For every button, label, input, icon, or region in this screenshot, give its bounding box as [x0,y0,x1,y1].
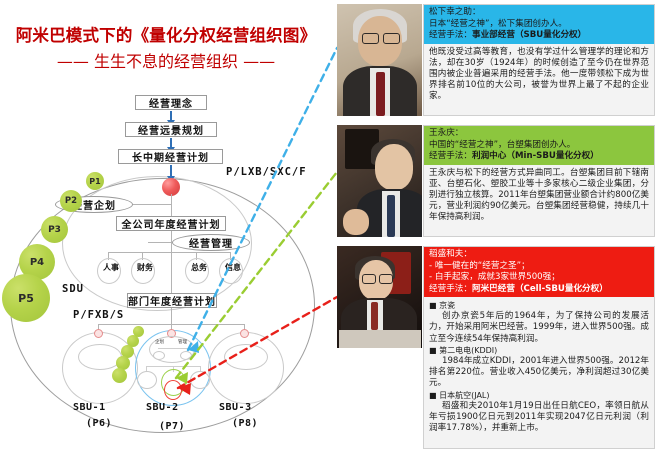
sbu-3-code: (P8) [232,418,258,429]
panel-wangyongqing-method: 经营手法：利润中心（Min-SBU量化分权） [429,151,650,163]
panel-inamori-text: ■ 京瓷 创办京瓷5年后的1964年，为了保持公司的发展活力，开始采用阿米巴经营… [424,297,654,436]
sbu-2-inner-bus [158,348,188,349]
code-label-sdu: SDU [62,283,84,295]
panel-inamori-header: 稻盛和夫： - 唯一健在的“经营之圣”； - 白手起家，成就3家世界500强； … [424,247,654,297]
panel-inamori-body: 稻盛和夫： - 唯一健在的“经营之圣”； - 白手起家，成就3家世界500强； … [423,246,655,449]
panel-wangyongqing-paragraph: 王永庆与松下的经营方式异曲同工。台塑集团目前下辖南亚、台塑石化、塑胶工业等十多家… [429,168,649,224]
flow-box-4[interactable]: 全公司年度经营计划 [116,216,226,231]
micro-label-management: 管理 [178,339,187,345]
portrait-inamori [337,246,422,348]
panel-wangyongqing-body: 王永庆： 中国的“经营之神”，台塑集团创办人。 经营手法：利润中心（Min-SB… [423,125,655,237]
panel-wangyongqing-text: 王永庆与松下的经营方式异曲同工。台塑集团目前下辖南亚、台塑石化、塑胶工业等十多家… [424,165,654,226]
code-label-lxb: P/LXB/SXC/F [226,166,307,178]
p-bubble-p5-label: P5 [18,292,34,305]
dept-label-hr-text: 人事 [103,263,119,272]
panel-inamori-name: 稻盛和夫： [429,249,650,261]
page-title: 阿米巴模式下的《量化分权经营组织图》 [6,22,326,46]
p-bubble-p2[interactable]: P2 [60,190,82,212]
panel-matsushita-desc: 日本“经营之神”，松下集团创办人。 [429,19,650,31]
sbu-3-inner-ellipse [224,344,268,370]
panel-wangyongqing-method-value: 利润中心（Min-SBU量化分权） [472,151,599,161]
p-bubble-p2-label: P2 [65,196,77,206]
panel-matsushita-paragraph: 他既没受过高等教育，也没有学过什么管理学的理论和方法，却在30岁（1924年）的… [429,47,649,103]
flow-box-5[interactable]: 部门年度经营计划 [127,293,217,308]
panel-inamori-heading-1: ■ 京瓷 [429,300,649,311]
p-bubble-p3[interactable]: P3 [41,216,68,243]
panel-wangyongqing-header: 王永庆： 中国的“经营之神”，台塑集团创办人。 经营手法：利润中心（Min-SB… [424,126,654,165]
dept-label-hr: 人事 [102,263,120,272]
planning-connector [133,204,171,205]
flow-arrow-1 [170,111,172,121]
dept-label-general: 总务 [190,263,208,272]
code-label-fxb: P/FXB/S [73,309,124,321]
dept-label-info-text: 信息 [225,263,241,272]
sbu-3-label: SBU-3 [219,402,252,413]
panel-matsushita-method: 经营手法：事业部经营（SBU量化分权） [429,30,650,42]
flow-box-2[interactable]: 经营远景规划 [125,122,217,137]
dept-bus-line [108,252,230,253]
oval-label-management[interactable]: 经营管理 [172,234,250,251]
panel-matsushita-method-label: 经营手法： [429,30,472,40]
panel-inamori-heading-2: ■ 第二电电(KDDI) [429,345,649,356]
sbu-2-cell-a [153,351,165,360]
panel-wangyongqing[interactable]: 王永庆： 中国的“经营之神”，台塑集团创办人。 经营手法：利润中心（Min-SB… [337,125,655,237]
panel-matsushita[interactable]: 松下幸之助： 日本“经营之神”，松下集团创办人。 经营手法：事业部经营（SBU量… [337,4,655,116]
flow-box-1[interactable]: 经营理念 [135,95,207,110]
panel-inamori-heading-3: ■ 日本航空(JAL) [429,390,649,401]
flow-arrow-2 [170,138,172,148]
amoeba-cell-highlight[interactable] [164,380,182,400]
dept-label-finance-text: 财务 [137,263,153,272]
sbu-1-label: SBU-1 [73,402,106,413]
cell-bubble-5 [112,368,127,383]
sbu-1-inner-ellipse [78,344,122,370]
dept-label-info: 信息 [224,263,242,272]
sbu-2-cell-b [180,351,192,360]
portrait-matsushita [337,4,422,116]
p-bubble-p5[interactable]: P5 [2,274,50,322]
sbu-2-code: (P7) [159,421,185,432]
portrait-wangyongqing [337,125,422,237]
p-bubble-p4-label: P4 [30,257,44,268]
page-subtitle: —— 生生不息的经营组织 —— [6,48,326,72]
panel-matsushita-header: 松下幸之助： 日本“经营之神”，松下集团创办人。 经营手法：事业部经营（SBU量… [424,5,654,44]
dept-label-finance: 财务 [136,263,154,272]
panel-wangyongqing-method-label: 经营手法： [429,151,472,161]
panel-inamori-method-value: 阿米巴经营（Cell-SBU量化分权） [472,284,608,294]
management-connector [148,242,172,243]
panel-wangyongqing-name: 王永庆： [429,128,650,140]
sbu-1-node[interactable] [94,329,103,338]
panel-inamori-point-1: - 唯一健在的“经营之圣”； [429,261,650,273]
sbu-2-cell-3 [190,371,210,389]
p-bubble-p1[interactable]: P1 [86,172,104,190]
panel-wangyongqing-desc: 中国的“经营之神”，台塑集团创办人。 [429,140,650,152]
panel-inamori-method-label: 经营手法： [429,284,472,294]
panel-inamori-block-1: 创办京瓷5年后的1964年，为了保持公司的发展活力，开始采用阿米巴经营。1999… [429,311,649,345]
p-bubble-p3-label: P3 [48,225,61,235]
flow-box-3[interactable]: 长中期经营计划 [118,149,223,164]
sbu-3-node[interactable] [240,329,249,338]
flow-arrow-3 [170,165,172,177]
sbu-2-cell-1 [137,371,157,389]
panel-matsushita-body: 松下幸之助： 日本“经营之神”，松下集团创办人。 经营手法：事业部经营（SBU量… [423,4,655,116]
panel-inamori[interactable]: 稻盛和夫： - 唯一健在的“经营之圣”； - 白手起家，成就3家世界500强； … [337,246,655,449]
panel-inamori-block-2: 1984年成立KDDI，2001年进入世界500强。2012年排名第220位。营… [429,356,649,390]
sbu-1-code: (P6) [86,418,112,429]
panel-inamori-block-3: 稻盛和夫2010年1月19日出任日航CEO，率领日航从年亏损1900亿日元到20… [429,401,649,435]
panel-matsushita-name: 松下幸之助： [429,7,650,19]
panel-inamori-method: 经营手法：阿米巴经营（Cell-SBU量化分权） [429,284,650,296]
panel-matsushita-text: 他既没受过高等教育，也没有学过什么管理学的理论和方法，却在30岁（1924年）的… [424,44,654,105]
panel-inamori-point-2: - 白手起家，成就3家世界500强； [429,272,650,284]
sbu-trunk-drop [171,308,172,324]
panel-matsushita-method-value: 事业部经营（SBU量化分权） [472,30,586,40]
micro-label-planning: 企划 [155,339,164,345]
dept-label-general-text: 总务 [191,263,207,272]
p-bubble-p1-label: P1 [89,177,100,186]
slide-canvas: 阿米巴模式下的《量化分权经营组织图》 —— 生生不息的经营组织 —— 经营理念 … [0,0,660,453]
sbu-2-label: SBU-2 [146,402,179,413]
